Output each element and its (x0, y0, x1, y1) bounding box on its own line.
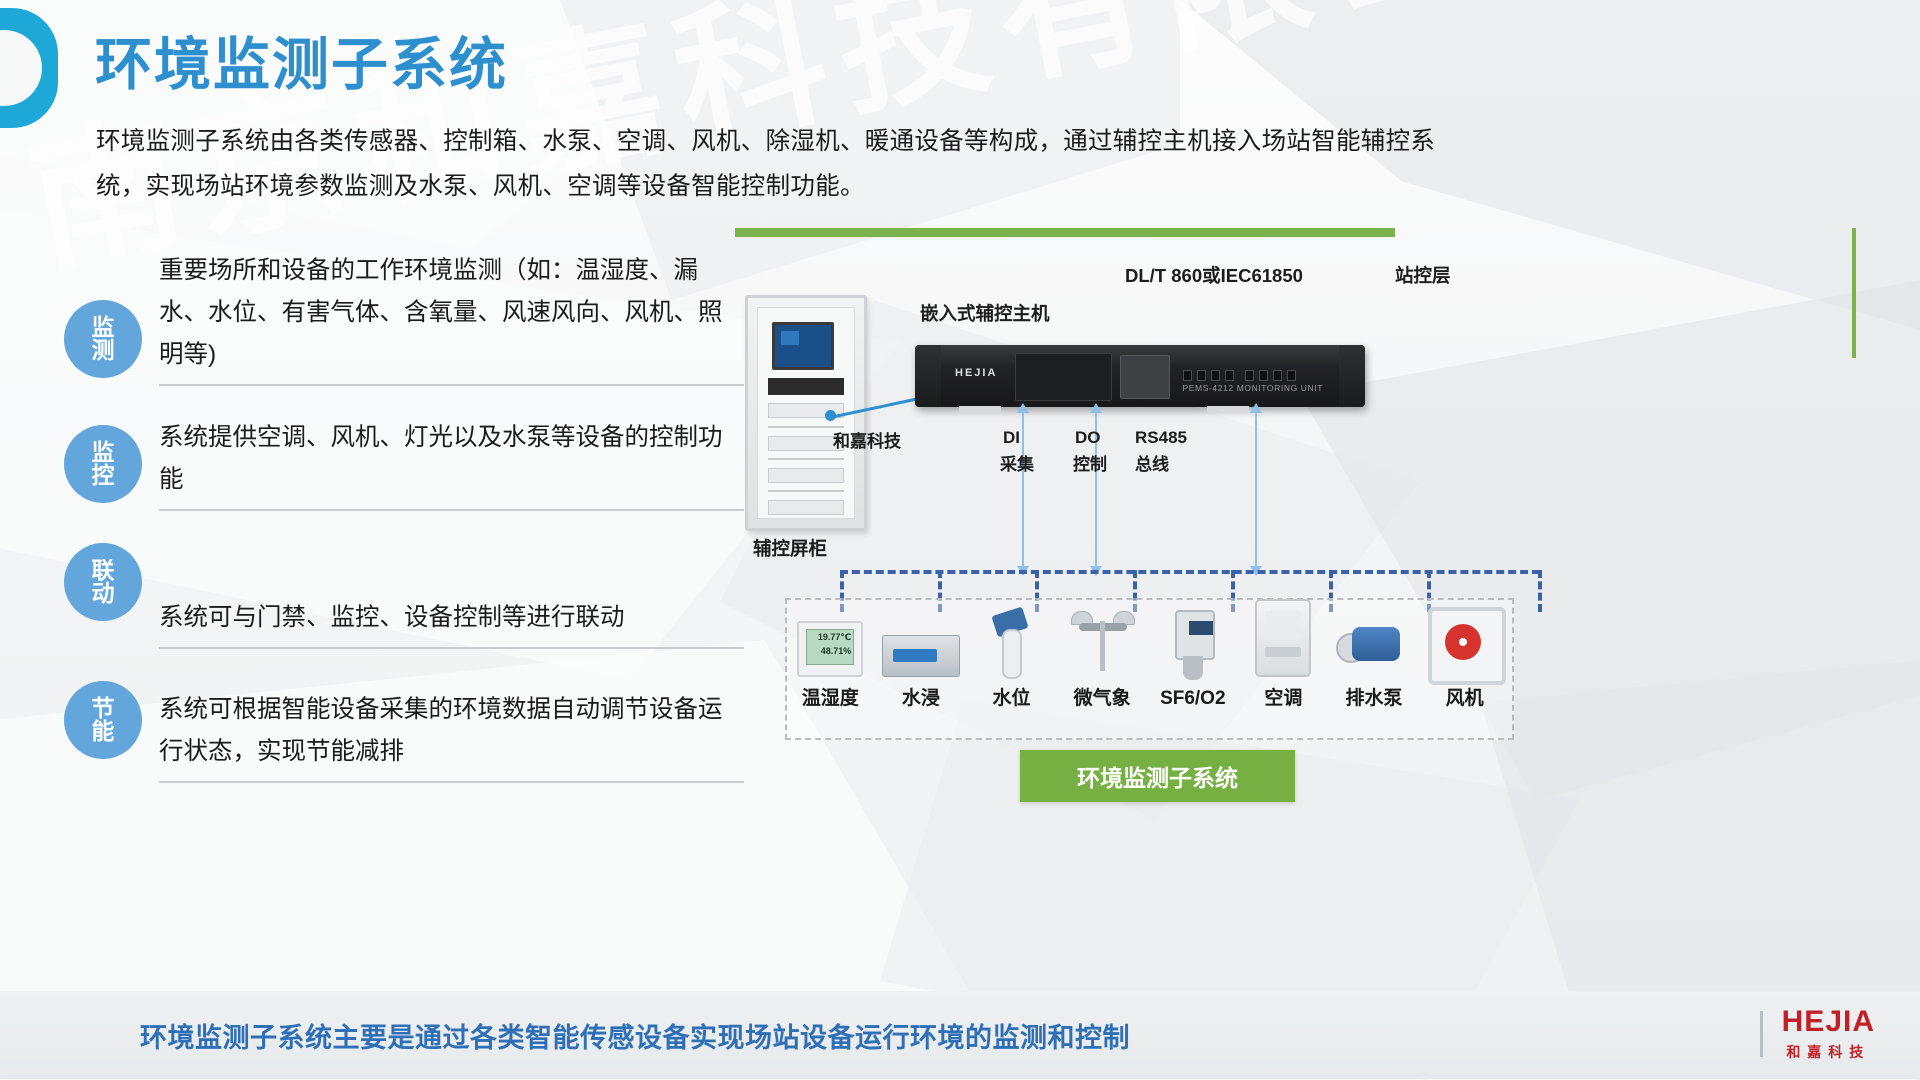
device-row: 19.77℃ 48.71% 温湿度 水浸 水位 (785, 605, 1510, 710)
cabinet-module (768, 378, 844, 395)
feature-badge-monitor: 监 测 (64, 300, 142, 378)
feature-body: 系统提供空调、风机、灯光以及水泵等设备的控制功能 (159, 417, 744, 511)
device-gas-sensor[interactable]: SF6/O2 (1148, 610, 1239, 710)
device-temp-humidity[interactable]: 19.77℃ 48.71% 温湿度 (785, 605, 876, 710)
fan-icon (1428, 605, 1502, 677)
feature-text: 系统提供空调、风机、灯光以及水泵等设备的控制功能 (159, 417, 744, 501)
feature-item-linkage[interactable]: 联 动 系统可与门禁、监控、设备控制等进行联动 (64, 549, 744, 659)
device-fan[interactable]: 风机 (1419, 605, 1510, 710)
lcd-line-temp: 19.77℃ (809, 631, 851, 645)
feature-item-control[interactable]: 监 控 系统提供空调、风机、灯光以及水泵等设备的控制功能 (64, 417, 744, 527)
cabinet-screen-icon (772, 322, 834, 370)
page-title: 环境监测子系统 (95, 37, 508, 94)
logo-cn-text: 和嘉科技 (1782, 1042, 1875, 1062)
device-water-level[interactable]: 水位 (966, 605, 1057, 710)
badge-char-bottom: 能 (92, 720, 115, 743)
water-level-icon (986, 605, 1038, 677)
green-divider-line (1852, 228, 1856, 358)
device-drain-pump[interactable]: 排水泵 (1329, 605, 1420, 710)
intro-paragraph: 环境监测子系统由各类传感器、控制箱、水泵、空调、风机、除湿机、暖通设备等构成，通… (96, 120, 1456, 209)
logo-divider (1760, 1011, 1763, 1057)
water-immersion-icon (882, 605, 960, 677)
lcd-readout: 19.77℃ 48.71% (806, 629, 854, 665)
host-rack-ear-left (915, 345, 941, 407)
bus-drop (1538, 570, 1542, 612)
host-foot (1207, 406, 1249, 413)
device-label: 温湿度 (802, 683, 859, 710)
bus-name-di: DI (1003, 428, 1020, 448)
bottom-bar: 环境监测子系统主要是通过各类智能传感设备实现场站设备运行环境的监测和控制 HEJ… (0, 991, 1920, 1079)
di-arrow (1022, 412, 1024, 567)
feature-list: 监 测 重要场所和设备的工作环境监测（如：温湿度、漏水、水位、有害气体、含氧量、… (64, 250, 744, 813)
device-label: 微气象 (1074, 683, 1131, 710)
connector-dot (825, 410, 836, 421)
feature-body: 系统可根据智能设备采集的环境数据自动调节设备运行状态，实现节能减排 (159, 681, 744, 783)
host-foot (959, 406, 1001, 413)
badge-char-top: 节 (92, 697, 115, 720)
feature-text: 重要场所和设备的工作环境监测（如：温湿度、漏水、水位、有害气体、含氧量、风速风向… (159, 250, 744, 376)
badge-char-bottom: 测 (92, 339, 115, 362)
device-micro-weather[interactable]: 微气象 (1057, 605, 1148, 710)
cabinet-module (768, 468, 844, 483)
cabinet-label: 辅控屏柜 (753, 535, 827, 561)
host-model-text: PEMS-4212 MONITORING UNIT (1183, 383, 1323, 393)
feature-text: 系统可与门禁、监控、设备控制等进行联动 (159, 597, 744, 639)
device-label: 排水泵 (1346, 683, 1403, 710)
company-tag: 和嘉科技 (833, 427, 901, 452)
logo-en-text: HEJIA (1782, 1007, 1875, 1037)
device-bus-line (840, 570, 1540, 574)
device-air-conditioner[interactable]: 空调 (1238, 605, 1329, 710)
rs485-arrow (1255, 412, 1257, 567)
device-label: 空调 (1264, 683, 1302, 710)
host-label: 嵌入式辅控主机 (920, 300, 1050, 326)
host-slot-block (1015, 353, 1112, 401)
bus-sub-rs485: 总线 (1135, 450, 1169, 475)
feature-body: 系统可与门禁、监控、设备控制等进行联动 (159, 549, 744, 649)
bus-sub-do: 控制 (1073, 450, 1107, 475)
bus-name-do: DO (1075, 428, 1101, 448)
host-port-group (1183, 370, 1234, 381)
badge-char-top: 监 (92, 316, 115, 339)
feature-badge-control: 监 控 (64, 425, 142, 503)
temp-humidity-icon: 19.77℃ 48.71% (797, 605, 863, 677)
feature-text: 系统可根据智能设备采集的环境数据自动调节设备运行状态，实现节能减排 (159, 689, 744, 773)
feature-body: 重要场所和设备的工作环境监测（如：温湿度、漏水、水位、有害气体、含氧量、风速风向… (159, 250, 744, 386)
air-conditioner-icon (1255, 605, 1311, 677)
feature-item-monitor[interactable]: 监 测 重要场所和设备的工作环境监测（如：温湿度、漏水、水位、有害气体、含氧量、… (64, 250, 744, 395)
badge-char-bottom: 控 (92, 464, 115, 487)
feature-item-energy-saving[interactable]: 节 能 系统可根据智能设备采集的环境数据自动调节设备运行状态，实现节能减排 (64, 681, 744, 791)
gas-sensor-icon (1169, 610, 1217, 682)
badge-char-top: 监 (92, 441, 115, 464)
feature-badge-linkage: 联 动 (64, 543, 142, 621)
host-brand-text: HEJIA (955, 367, 997, 379)
host-center-module (1120, 355, 1170, 399)
bus-name-rs485: RS485 (1135, 428, 1187, 448)
bottom-statement: 环境监测子系统主要是通过各类智能传感设备实现场站设备运行环境的监测和控制 (140, 1016, 1130, 1055)
device-label: 风机 (1446, 683, 1484, 710)
host-rack-ear-right (1339, 345, 1365, 407)
badge-char-bottom: 动 (92, 582, 115, 605)
company-logo: HEJIA 和嘉科技 (1782, 1007, 1875, 1062)
device-label: SF6/O2 (1160, 688, 1225, 710)
architecture-diagram: DL/T 860或IEC61850 站控层 嵌入式辅控主机 辅控屏柜 和嘉科技 … (735, 220, 1895, 820)
drain-pump-icon (1336, 605, 1412, 677)
bus-sub-di: 采集 (1000, 450, 1034, 475)
embedded-host-device: HEJIA PEMS-4212 MONITORING UNIT (915, 345, 1365, 407)
badge-char-top: 联 (92, 559, 115, 582)
protocol-label: DL/T 860或IEC61850 (1125, 262, 1303, 288)
device-water-immersion[interactable]: 水浸 (876, 605, 967, 710)
device-label: 水位 (993, 683, 1031, 710)
cabinet-divider (768, 458, 844, 460)
lcd-line-humidity: 48.71% (809, 645, 851, 659)
host-port-group (1245, 370, 1296, 381)
cabinet-divider (768, 490, 844, 492)
subsystem-button[interactable]: 环境监测子系统 (1020, 750, 1295, 802)
cabinet-module (768, 500, 844, 515)
micro-weather-icon (1069, 605, 1135, 677)
feature-badge-energy-saving: 节 能 (64, 681, 142, 759)
device-label: 水浸 (902, 683, 940, 710)
station-layer-label: 站控层 (1395, 262, 1451, 288)
green-top-bar (735, 228, 1395, 237)
